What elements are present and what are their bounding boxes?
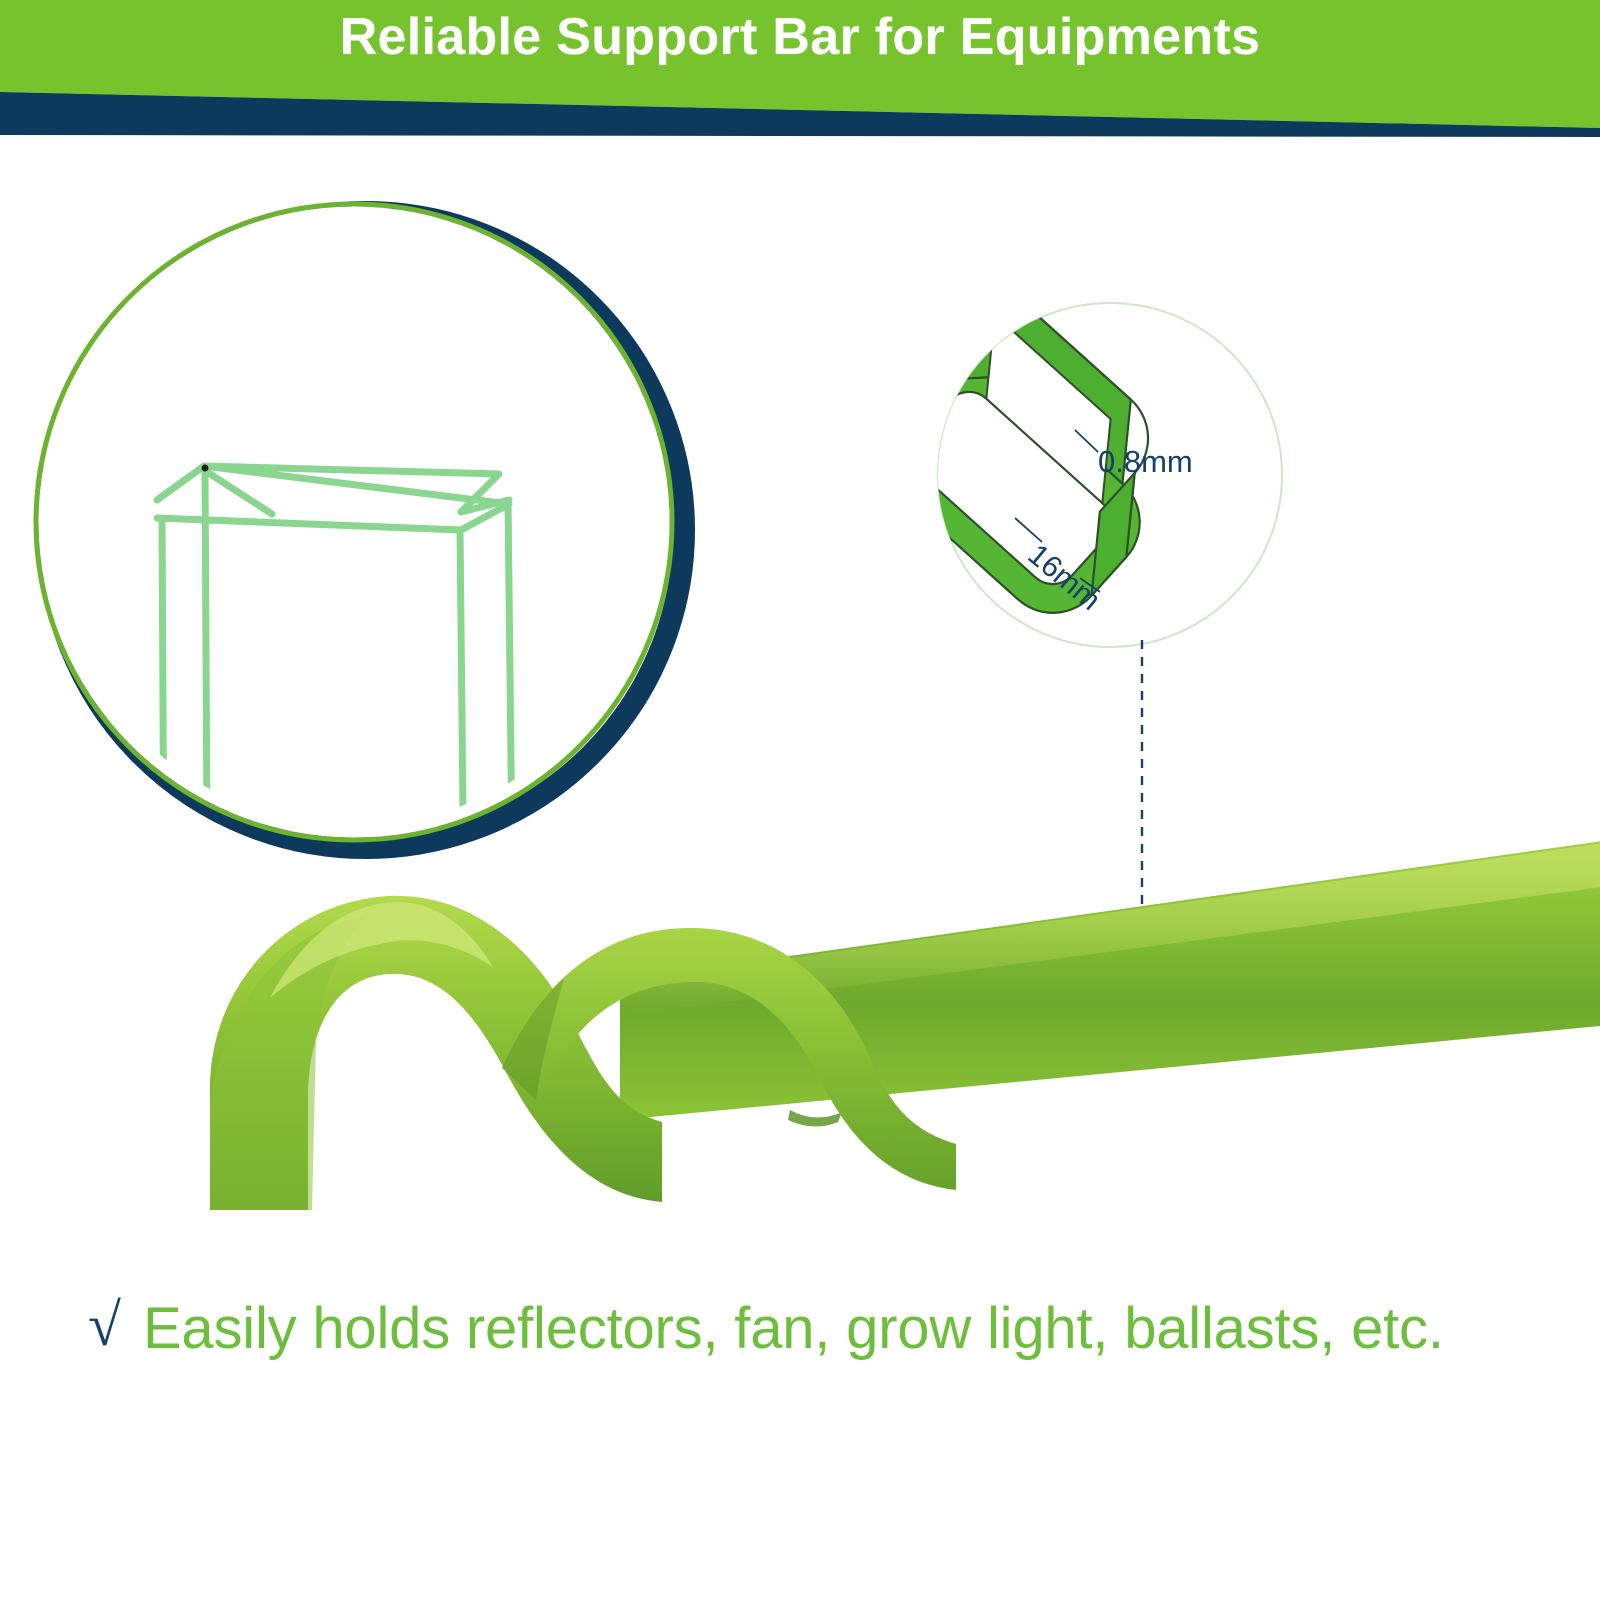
grow-tent-circle-graphic	[14, 178, 714, 878]
infographic-page: Reliable Support Bar for Equipments	[0, 0, 1600, 1600]
label-wall-thickness: 0.8mm	[1098, 444, 1193, 479]
header-banner: Reliable Support Bar for Equipments	[0, 0, 1600, 150]
feature-caption-text: Easily holds reflectors, fan, grow light…	[143, 1297, 1444, 1361]
tent-joint-back-left	[202, 465, 209, 472]
grow-tent-circle	[14, 178, 714, 878]
feature-caption: √ Easily holds reflectors, fan, grow lig…	[88, 1284, 1568, 1374]
support-bar-illustration	[150, 810, 1600, 1230]
product-photo	[150, 810, 1600, 1230]
tent-post-back-left	[205, 470, 207, 830]
page-title: Reliable Support Bar for Equipments	[0, 8, 1600, 68]
support-bar-notch	[788, 1110, 842, 1127]
checkmark-icon: √	[88, 1295, 121, 1355]
cross-section-circle: 0.8mm 16mm	[930, 290, 1310, 680]
circle-interior	[39, 207, 670, 838]
cross-section-graphic: 0.8mm 16mm	[930, 290, 1310, 680]
